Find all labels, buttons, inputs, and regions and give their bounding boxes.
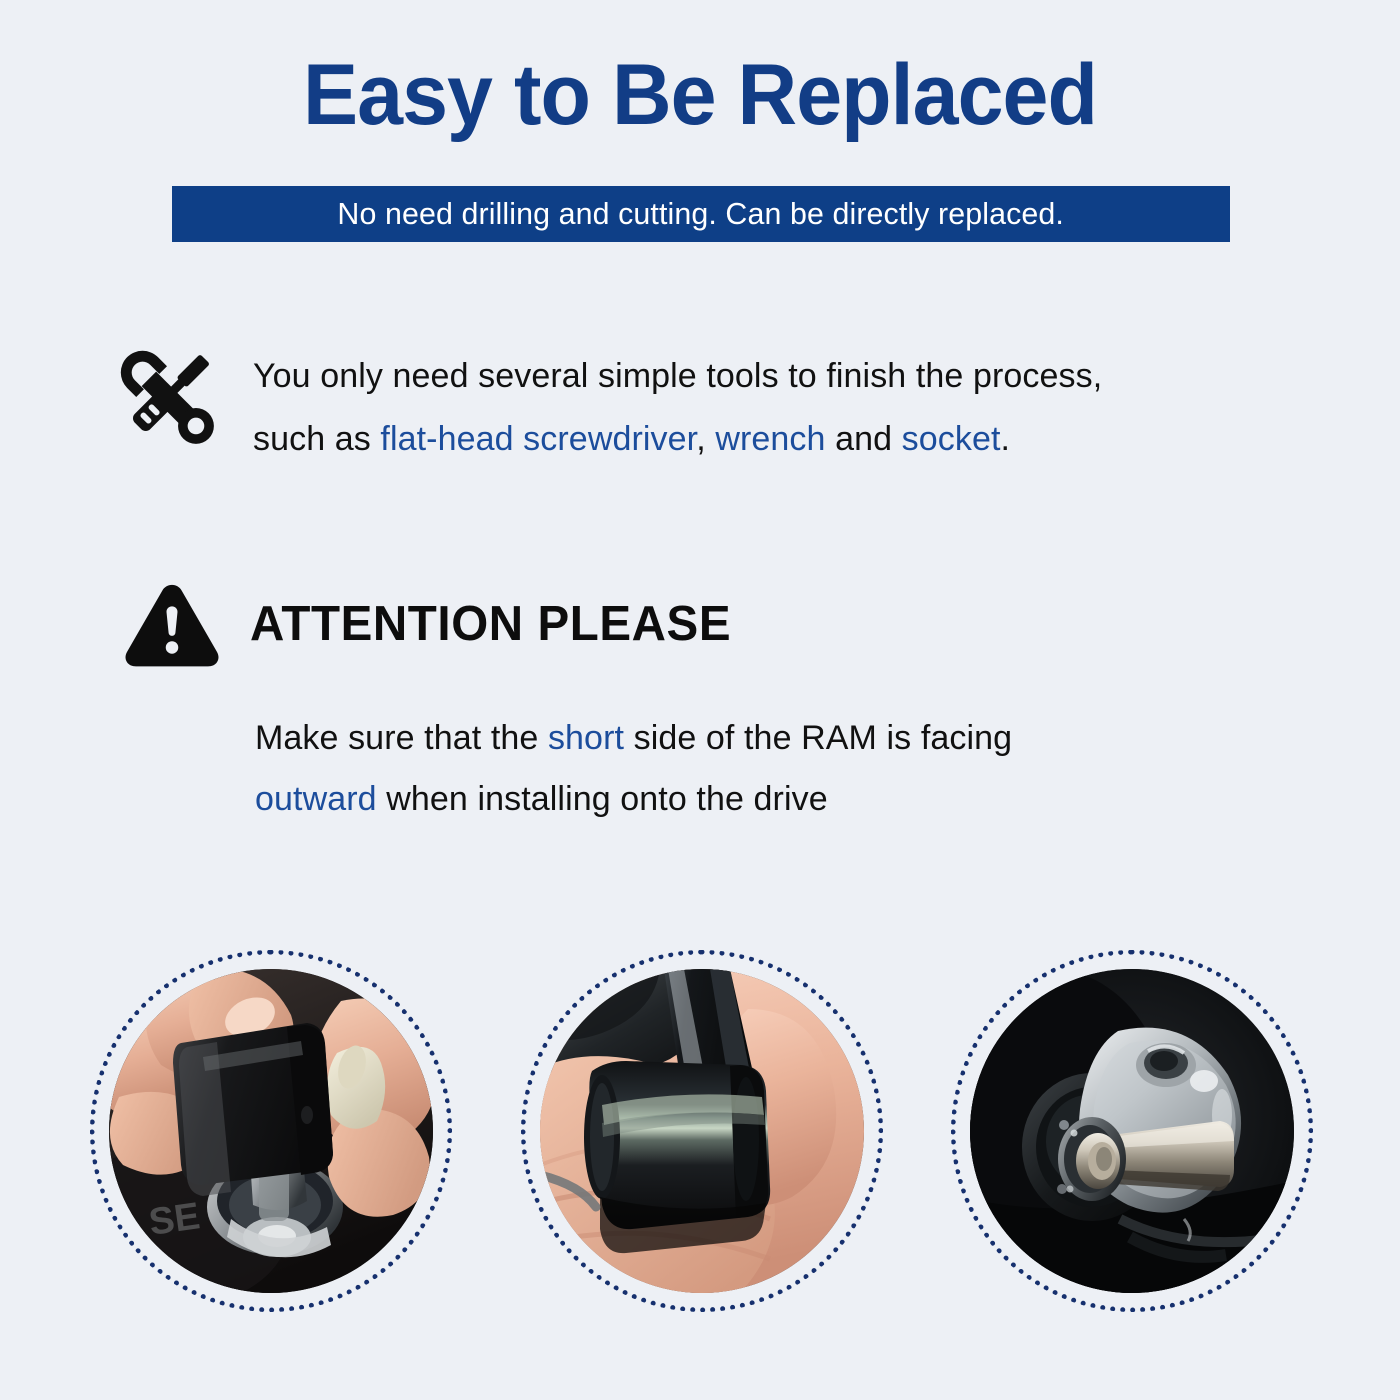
- tools-description: You only need several simple tools to fi…: [253, 345, 1102, 471]
- subtitle-banner: No need drilling and cutting. Can be dir…: [172, 186, 1230, 242]
- wrench-and-screwdriver-icon: [103, 333, 231, 461]
- photo-install-bushing-onto-shock: SE: [90, 950, 452, 1312]
- tools-line-2-prefix: such as: [253, 420, 380, 458]
- attention-body: Make sure that the short side of the RAM…: [255, 708, 1315, 829]
- subtitle-banner-text: No need drilling and cutting. Can be dir…: [338, 196, 1065, 232]
- warning-triangle-icon: [122, 581, 222, 667]
- photo-1-image: SE: [109, 969, 433, 1293]
- attention-body-suffix: when installing onto the drive: [377, 780, 828, 818]
- tools-highlight-wrench: wrench: [715, 420, 825, 458]
- tools-period: .: [1001, 420, 1011, 458]
- photo-2-image: [540, 969, 864, 1293]
- photo-3-image: [970, 969, 1294, 1293]
- tools-sep-1: ,: [696, 420, 715, 458]
- infographic-page: Easy to Be Replaced No need drilling and…: [0, 0, 1400, 1400]
- photo-gallery: SE: [0, 950, 1400, 1315]
- attention-highlight-outward: outward: [255, 780, 377, 818]
- photo-installed-on-drive: [951, 950, 1313, 1312]
- page-title: Easy to Be Replaced: [28, 52, 1372, 138]
- attention-highlight-short: short: [548, 719, 624, 757]
- tools-section: You only need several simple tools to fi…: [0, 333, 1400, 471]
- attention-heading-row: ATTENTION PLEASE: [0, 581, 1400, 667]
- attention-body-middle: side of the RAM is facing: [624, 719, 1012, 757]
- attention-title: ATTENTION PLEASE: [250, 596, 731, 652]
- tools-line-1: You only need several simple tools to fi…: [253, 357, 1102, 395]
- svg-text:SE: SE: [146, 1195, 202, 1244]
- attention-body-prefix: Make sure that the: [255, 719, 548, 757]
- tools-highlight-screwdriver: flat-head screwdriver: [380, 420, 696, 458]
- tools-sep-2: and: [826, 420, 902, 458]
- photo-hand-holding-bushing: [521, 950, 883, 1312]
- tools-highlight-socket: socket: [902, 420, 1001, 458]
